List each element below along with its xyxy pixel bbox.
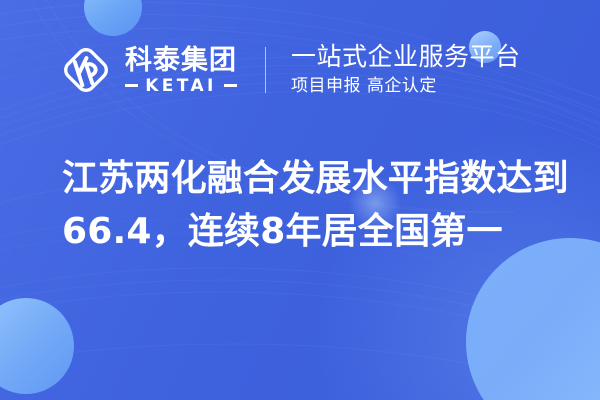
header-vertical-divider [265, 47, 266, 93]
brand-logo[interactable]: 科泰集团 KETAI [58, 42, 237, 98]
headline-line-2: 66.4，连续8年居全国第一 [62, 205, 562, 258]
headline-line-1: 江苏两化融合发展水平指数达到 [62, 152, 562, 205]
tagline-sub: 项目申报 高企认定 [291, 74, 521, 98]
tagline-main: 一站式企业服务平台 [291, 42, 521, 72]
ketai-diamond-monogram-logo-icon [58, 42, 114, 98]
brand-wordmark: 科泰集团 KETAI [125, 46, 237, 95]
page-title: 江苏两化融合发展水平指数达到 66.4，连续8年居全国第一 [62, 152, 562, 258]
brand-rule-right-icon [224, 84, 237, 87]
header-tagline: 一站式企业服务平台 项目申报 高企认定 [291, 42, 521, 98]
brand-latin-name: KETAI [140, 77, 222, 95]
brand-latin-row: KETAI [125, 77, 237, 95]
promo-banner: 科泰集团 KETAI 一站式企业服务平台 项目申报 高企认定 江苏两化融合发展水… [0, 0, 600, 400]
decorative-circle-bottom-right [466, 238, 600, 400]
decorative-circle-bottom-left [0, 298, 74, 394]
banner-header: 科泰集团 KETAI 一站式企业服务平台 项目申报 高企认定 [0, 0, 600, 140]
brand-name: 科泰集团 [125, 46, 237, 75]
brand-rule-left-icon [125, 84, 138, 87]
